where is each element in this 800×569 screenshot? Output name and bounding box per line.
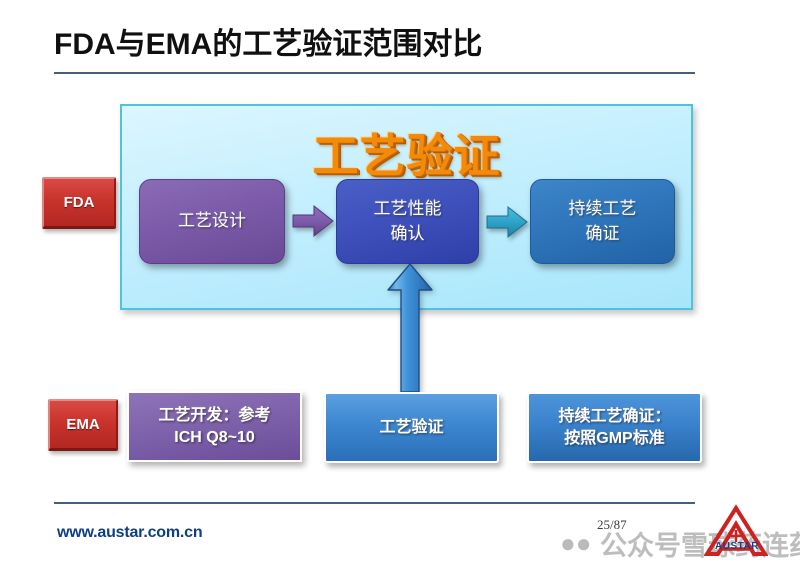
label-fda-text: FDA — [64, 194, 95, 211]
ema-box-3-line-1: 持续工艺确证： — [558, 406, 670, 428]
page-title: FDA与EMA的工艺验证范围对比 — [54, 19, 482, 63]
ema-box-process-validation: 工艺验证 — [324, 392, 499, 463]
stage-3-line-2: 确证 — [569, 222, 637, 247]
arrow-right-icon-2 — [486, 205, 528, 239]
ema-box-3-lines: 持续工艺确证： 按照GMP标准 — [558, 406, 670, 449]
stage-box-process-performance-qualification: 工艺性能 确认 — [336, 179, 479, 264]
stage-2-lines: 工艺性能 确认 — [374, 197, 442, 246]
stage-box-continued-process-verification: 持续工艺 确证 — [530, 179, 675, 264]
ema-box-1-line-2: ICH Q8~10 — [158, 427, 270, 449]
arrow-right-icon-1 — [292, 204, 334, 238]
stage-box-process-design: 工艺设计 — [139, 179, 285, 264]
ema-box-1-lines: 工艺开发：参考 ICH Q8~10 — [158, 405, 270, 448]
slide-canvas: FDA与EMA的工艺验证范围对比 FDA EMA 工艺验证 工艺设计 工艺性能 — [0, 0, 800, 569]
ema-box-ongoing-process-verification: 持续工艺确证： 按照GMP标准 — [527, 392, 702, 463]
label-fda: FDA — [42, 177, 116, 229]
stage-3-lines: 持续工艺 确证 — [569, 197, 637, 246]
wechat-bubble-icon: ●● — [560, 532, 590, 554]
title-divider — [54, 72, 695, 74]
footer-website-url[interactable]: www.austar.com.cn — [57, 524, 202, 542]
ema-box-process-development: 工艺开发：参考 ICH Q8~10 — [127, 391, 302, 462]
watermark-text: 公众号雪球药连药科普 — [600, 524, 800, 563]
label-ema: EMA — [48, 399, 118, 451]
austar-logo-wordmark: AUSTAR — [706, 541, 768, 552]
stage-2-line-1: 工艺性能 — [374, 197, 442, 222]
ema-box-2-lines: 工艺验证 — [379, 417, 443, 439]
stage-1-line-1: 工艺设计 — [178, 209, 246, 234]
ema-to-fda-up-arrow-icon — [385, 262, 435, 394]
stage-2-line-2: 确认 — [374, 222, 442, 247]
ema-box-1-line-1: 工艺开发：参考 — [158, 405, 270, 427]
label-ema-text: EMA — [66, 416, 99, 433]
ema-box-2-line-1: 工艺验证 — [379, 417, 443, 439]
panel-heading: 工艺验证 — [122, 120, 691, 186]
stage-1-lines: 工艺设计 — [178, 209, 246, 234]
austar-logo-icon — [704, 504, 768, 562]
ema-box-3-line-2: 按照GMP标准 — [558, 428, 670, 450]
footer-divider — [54, 502, 695, 504]
page-number: 25/87 — [597, 517, 627, 533]
stage-3-line-1: 持续工艺 — [569, 197, 637, 222]
